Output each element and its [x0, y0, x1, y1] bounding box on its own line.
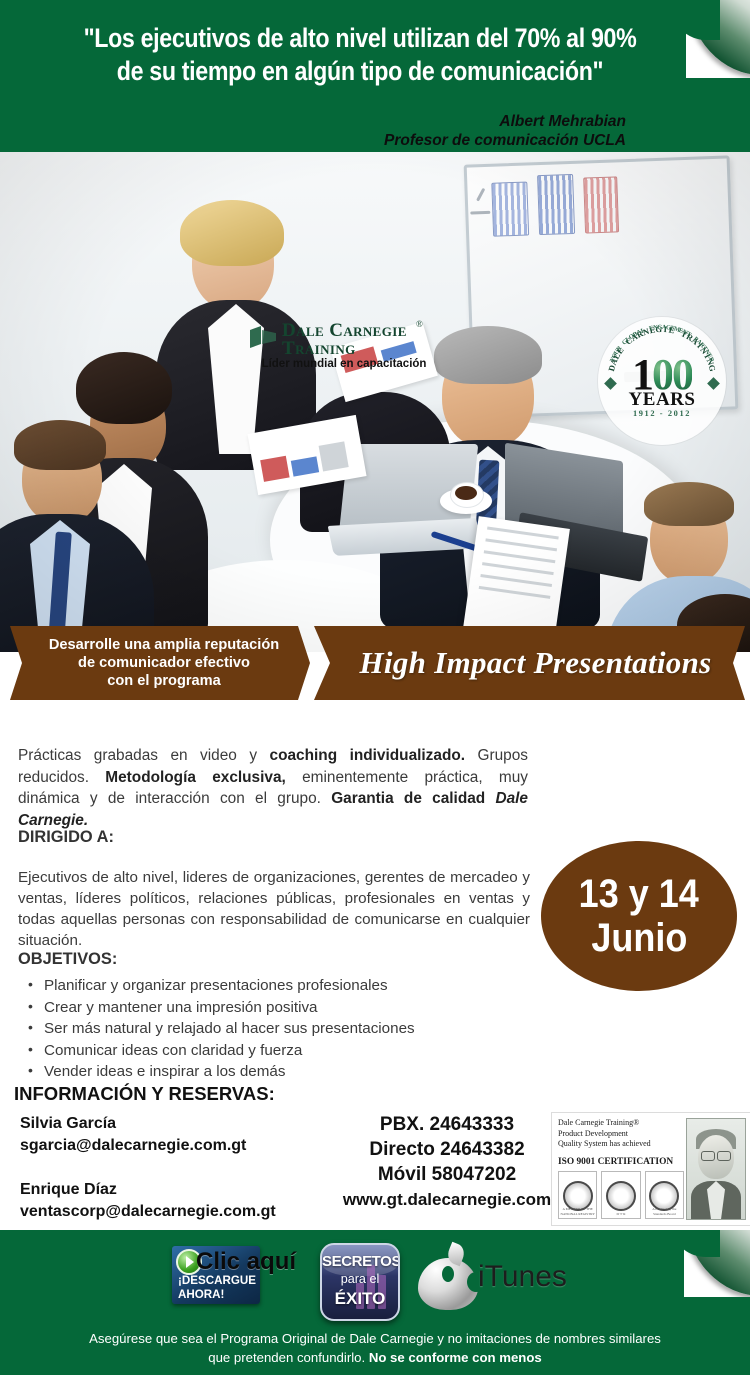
click-here-label[interactable]: Clic aquí — [196, 1248, 296, 1276]
intro-bold-garantia: Garantia de calidad — [331, 790, 485, 807]
contact-person-1-name: Silvia García — [20, 1115, 116, 1133]
download-label: ¡DESCARGUE AHORA! — [178, 1274, 258, 1302]
disclaimer-line-2-a: que pretenden confundirlo. — [208, 1350, 369, 1365]
intro-paragraph: Prácticas grabadas en video y coaching i… — [18, 745, 528, 831]
registered-trademark-icon: ® — [416, 319, 423, 329]
itunes-button[interactable]: iTunes — [416, 1242, 566, 1316]
download-line-2: AHORA! — [178, 1288, 258, 1302]
website-link[interactable]: www.gt.dalecarnegie.com — [322, 1187, 572, 1212]
phone-pbx: PBX. 24643333 — [322, 1112, 572, 1137]
list-item: Planificar y organizar presentaciones pr… — [28, 975, 528, 997]
dale-carnegie-portrait — [686, 1118, 746, 1220]
date-badge: 13 y 14 Junio — [541, 841, 737, 991]
objetivos-list: Planificar y organizar presentaciones pr… — [28, 975, 528, 1083]
phone-movil: Móvil 58047202 — [322, 1162, 572, 1187]
app-line-2: para el — [322, 1272, 398, 1286]
iso-certification-block: Dale Carnegie Training® Product Developm… — [551, 1112, 750, 1226]
phone-directo: Directo 24643382 — [322, 1137, 572, 1162]
contact-person-2-email[interactable]: ventascorp@dalecarnegie.com.gt — [20, 1203, 276, 1221]
page-curl-top-right-icon — [686, 0, 750, 78]
quote-line-2: de su tiempo en algún tipo de comunicaci… — [50, 55, 669, 88]
iso-seal-3-icon: Accredited by the Standards Board — [645, 1171, 684, 1219]
footer-section: ¡DESCARGUE AHORA! Clic aquí SECRETOS par… — [0, 1230, 750, 1375]
list-item: Crear y mantener una impresión positiva — [28, 997, 528, 1019]
quote-text: "Los ejecutivos de alto nivel utilizan d… — [50, 22, 669, 88]
intro-part-1: Prácticas grabadas en video y — [18, 747, 270, 764]
banner-left-line-1: Desarrolle una amplia reputación — [49, 636, 279, 654]
logo-word-training: Training — [282, 338, 356, 360]
download-line-1: ¡DESCARGUE — [178, 1274, 258, 1288]
page-curl-bottom-right-icon — [684, 1230, 750, 1297]
footer-disclaimer: Asegúrese que sea el Programa Original d… — [0, 1329, 750, 1367]
quote-banner: "Los ejecutivos de alto nivel utilizan d… — [0, 0, 750, 152]
date-badge-days: 13 y 14 — [579, 872, 699, 916]
meeting-photo: Dale Carnegie Training ® Líder mundial e… — [0, 152, 750, 652]
iso-seal-row: A MEMBER OF THE NATIONAL REGISTRY D·T·R … — [558, 1171, 684, 1219]
contact-person-2-name: Enrique Díaz — [20, 1181, 117, 1199]
iso-line-2: Product Development — [558, 1129, 678, 1140]
flyer-page: "Los ejecutivos de alto nivel utilizan d… — [0, 0, 750, 1375]
iso-description: Dale Carnegie Training® Product Developm… — [558, 1118, 678, 1150]
date-badge-month: Junio — [591, 916, 687, 960]
quote-line-1: "Los ejecutivos de alto nivel utilizan d… — [50, 22, 669, 55]
banner-subtitle: Desarrolle una amplia reputación de comu… — [10, 626, 310, 700]
quote-author-title: Profesor de comunicación UCLA — [384, 131, 626, 150]
objetivos-heading: OBJETIVOS: — [18, 950, 117, 969]
quote-attribution: Albert Mehrabian Profesor de comunicació… — [384, 112, 626, 150]
intro-bold-coaching: coaching individualizado. — [270, 747, 466, 764]
disclaimer-line-2: que pretenden confundirlo. No se conform… — [0, 1348, 750, 1367]
list-item: Comunicar ideas con claridad y fuerza — [28, 1040, 528, 1062]
iso-seal-2-icon: D·T·R — [601, 1171, 640, 1219]
dc-diamond-icon — [250, 324, 276, 350]
app-line-3: ÉXITO — [322, 1289, 398, 1309]
contact-heading: INFORMACIÓN Y RESERVAS: — [14, 1083, 275, 1105]
disclaimer-line-1: Asegúrese que sea el Programa Original d… — [0, 1329, 750, 1348]
banner-left-line-3: con el programa — [49, 672, 279, 690]
quote-author: Albert Mehrabian — [384, 112, 626, 131]
dirigido-paragraph: Ejecutivos de alto nivel, lideres de org… — [18, 867, 530, 951]
dirigido-heading: DIRIGIDO A: — [18, 828, 114, 847]
apple-logo-icon — [416, 1244, 480, 1310]
banner-left-line-2: de comunicador efectivo — [49, 654, 279, 672]
itunes-label: iTunes — [478, 1260, 567, 1294]
program-banners: Desarrolle una amplia reputación de comu… — [0, 626, 750, 700]
iso-line-3: Quality System has achieved — [558, 1139, 678, 1150]
disclaimer-emphasis: No se conforme con menos — [369, 1350, 542, 1365]
list-item: Ser más natural y relajado al hacer sus … — [28, 1018, 528, 1040]
hundred-years-seal: DALE CARNEGIE TRAINING 100100 YEARS 1912… — [598, 317, 726, 445]
seal-ring-bottom-text: YOUR GLOBAL ENGAGEMENT PARTNER — [598, 317, 726, 445]
iso-certification-label: ISO 9001 CERTIFICATION — [558, 1157, 684, 1167]
banner-program-title: High Impact Presentations — [300, 626, 745, 700]
secretos-exito-app-button[interactable]: SECRETOS para el ÉXITO — [320, 1243, 400, 1321]
logo-tagline: Líder mundial en capacitación — [234, 358, 454, 370]
iso-line-1: Dale Carnegie Training® — [558, 1118, 678, 1129]
phone-block: PBX. 24643333 Directo 24643382 Móvil 580… — [322, 1112, 572, 1212]
program-title: High Impact Presentations — [334, 645, 712, 681]
app-line-1: SECRETOS — [322, 1253, 398, 1270]
intro-bold-metodologia: Metodología exclusiva, — [105, 769, 286, 786]
contact-person-1-email[interactable]: sgarcia@dalecarnegie.com.gt — [20, 1137, 246, 1155]
iso-seal-1-icon: A MEMBER OF THE NATIONAL REGISTRY — [558, 1171, 597, 1219]
